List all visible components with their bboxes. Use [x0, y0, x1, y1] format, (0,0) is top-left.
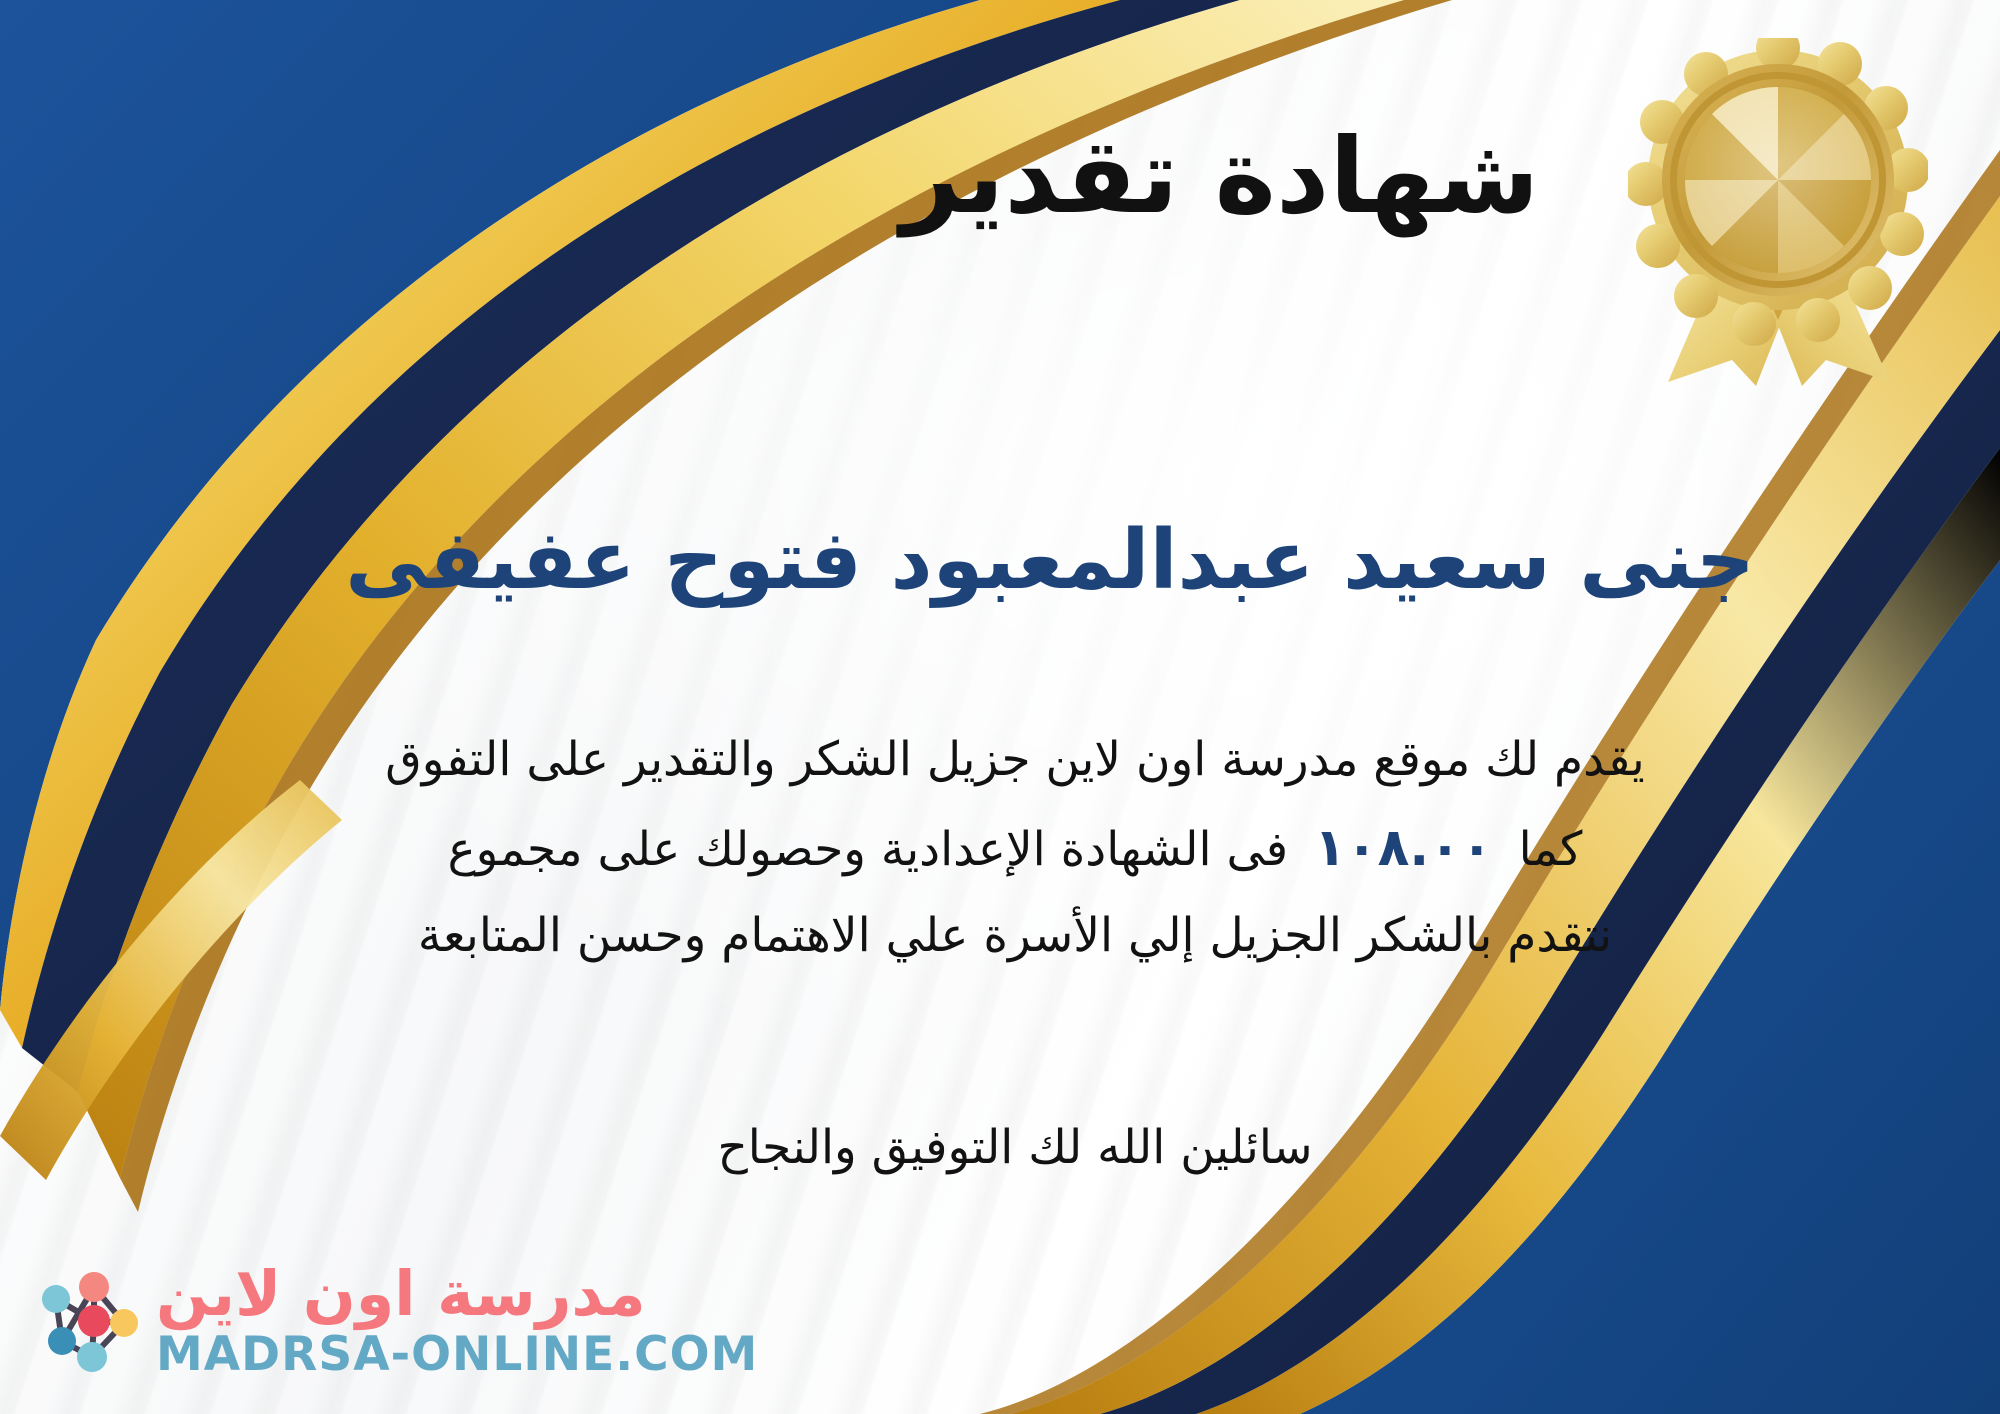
page-title: شهادة تقدير	[440, 118, 2000, 234]
body-line-2-suffix: كما	[1519, 822, 1583, 877]
certificate-content: شهادة تقدير جنى سعيد عبدالمعبود فتوح عفي…	[0, 0, 2000, 1414]
total-grade-value: ١٠٨.٠٠	[1288, 818, 1518, 878]
brand-logo[interactable]: مدرسة اون لاين MADRSA-ONLINE.COM	[34, 1263, 758, 1378]
body-line-2: كما١٠٨.٠٠فى الشهادة الإعدادية وحصولك على…	[70, 802, 1960, 895]
body-line-1: يقدم لك موقع مدرسة اون لاين جزيل الشكر و…	[70, 718, 1960, 802]
closing-line: سائلين الله لك التوفيق والنجاح	[70, 1120, 1960, 1175]
network-nodes-icon	[34, 1269, 142, 1373]
brand-text: مدرسة اون لاين MADRSA-ONLINE.COM	[156, 1263, 758, 1378]
body-line-3: نتقدم بالشكر الجزيل إلي الأسرة علي الاهت…	[70, 894, 1960, 978]
body-line-2-prefix: فى الشهادة الإعدادية وحصولك على مجموع	[448, 822, 1289, 877]
certificate-body: يقدم لك موقع مدرسة اون لاين جزيل الشكر و…	[70, 718, 1960, 978]
certificate-page: شهادة تقدير جنى سعيد عبدالمعبود فتوح عفي…	[0, 0, 2000, 1414]
brand-website: MADRSA-ONLINE.COM	[156, 1331, 758, 1378]
recipient-name: جنى سعيد عبدالمعبود فتوح عفيفى	[100, 512, 2000, 610]
brand-name-arabic: مدرسة اون لاين	[156, 1263, 646, 1325]
